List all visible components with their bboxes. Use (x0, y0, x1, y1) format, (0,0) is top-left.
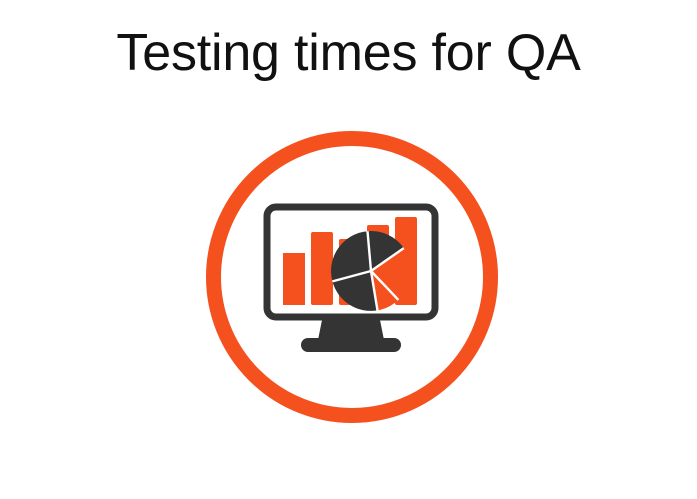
bar-1 (283, 253, 305, 305)
analytics-dashboard-icon (206, 131, 498, 423)
monitor-neck-icon (318, 320, 384, 340)
slide-canvas: Testing times for QA (0, 0, 697, 499)
monitor-base-icon (301, 338, 401, 352)
analytics-illustration (206, 131, 498, 423)
page-title: Testing times for QA (0, 22, 697, 84)
pie-chart-icon (331, 231, 411, 311)
bar-2 (311, 232, 333, 305)
